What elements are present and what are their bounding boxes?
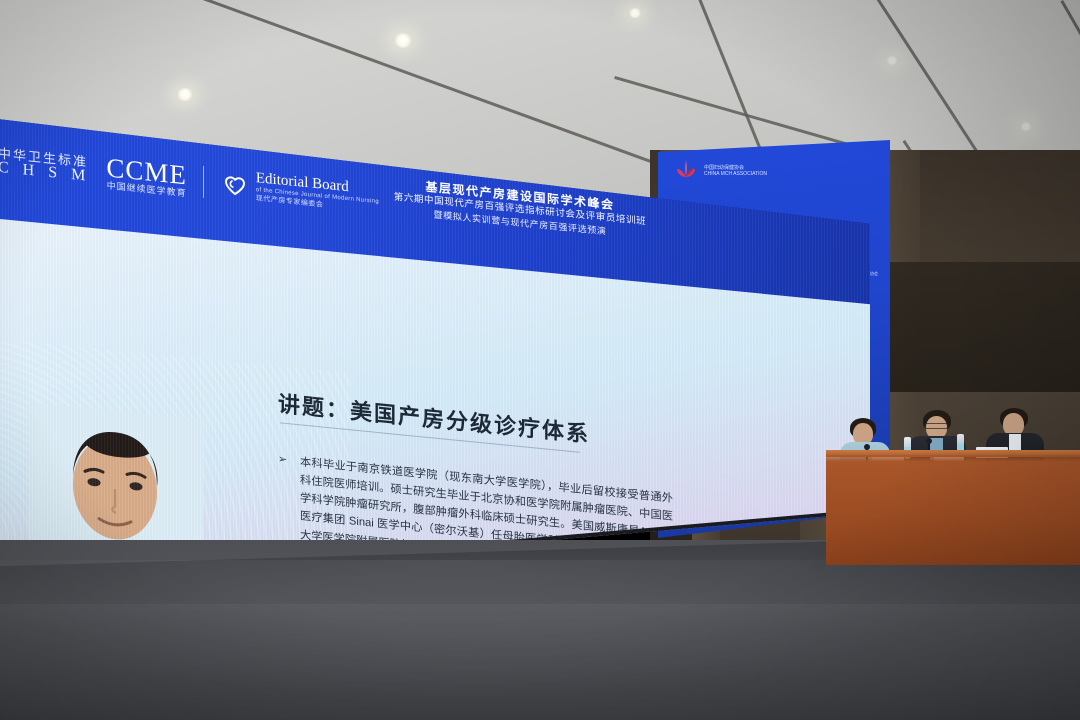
ceiling-downlight (393, 33, 413, 48)
bullet-marker-icon: ➢ (278, 451, 287, 470)
ceiling-downlight (176, 88, 194, 101)
logo-editorial-board: Editorial Board of the Chinese Journal o… (220, 168, 379, 215)
eb-line2: of the Chinese Journal of Modern Nursing (256, 187, 379, 205)
ceiling-downlight (628, 8, 642, 18)
conference-stage-photo: ⇱ 中国妇幼保健协会CHINA MCH ASSOCIATION CHSM CCM… (0, 0, 1080, 720)
logo-ccme-en: CCME (106, 153, 187, 189)
logo-chsm-cn: 中华卫生标准 (0, 146, 90, 169)
heart-swirl-icon (220, 170, 250, 199)
logo-divider (203, 166, 204, 198)
lotus-icon (674, 156, 698, 185)
logo-ccme: CCME 中国继续医学教育 (106, 153, 187, 199)
banner-logo-caption: 中国妇幼保健协会CHINA MCH ASSOCIATION (704, 165, 767, 177)
slide-title: 讲题：美国产房分级诊疗体系 (278, 386, 590, 449)
floor-light-sheen (0, 560, 1080, 720)
logo-chsm-en: C H S M (0, 160, 90, 186)
glasses-icon (925, 423, 948, 429)
logo-chsm: 中华卫生标准 C H S M (0, 146, 90, 185)
eb-line1: Editorial Board (256, 171, 379, 199)
slide-title-rule (280, 422, 580, 452)
logo-ccme-cn: 中国继续医学教育 (106, 182, 187, 199)
banner-lotus-logo: 中国妇幼保健协会CHINA MCH ASSOCIATION (674, 156, 767, 185)
eb-line3: 现代产房专家编委会 (256, 193, 379, 215)
ceiling-downlight (886, 56, 898, 65)
summit-line3: 暨模拟人实训营与现代产房百强评选预演 (310, 196, 730, 249)
panel-table-skirt (826, 455, 1080, 565)
ceiling-downlight (1020, 122, 1032, 131)
